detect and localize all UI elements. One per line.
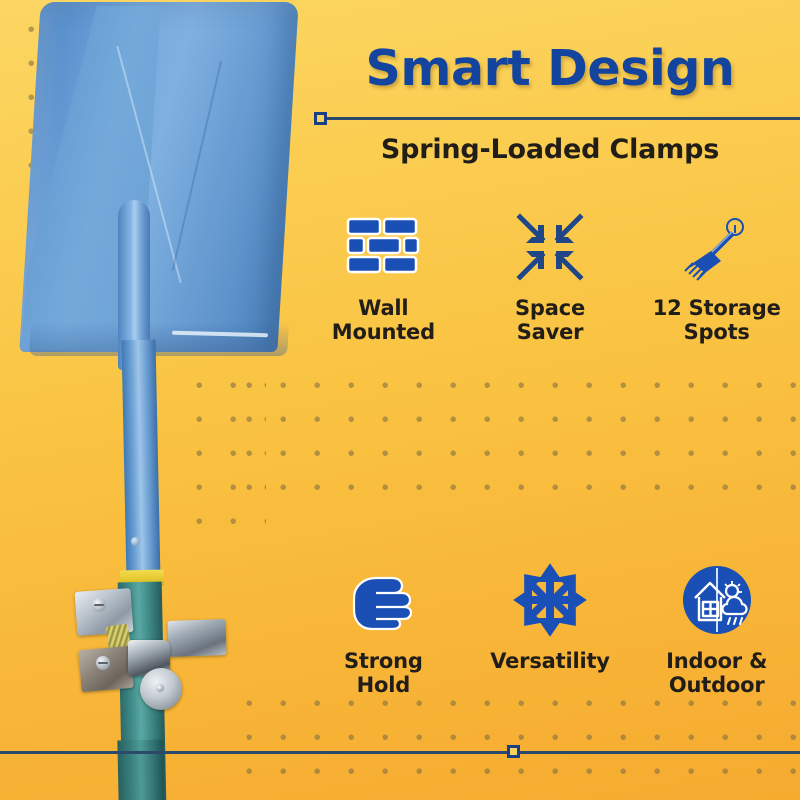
feature-storage-spots: 12 Storage Spots — [633, 205, 800, 344]
clamp-disc — [140, 668, 182, 710]
content-panel: Smart Design Spring-Loaded Clamps — [300, 0, 800, 800]
feature-label: Indoor & Outdoor — [666, 650, 767, 697]
feature-space-saver: Space Saver — [467, 205, 634, 344]
feature-label: Versatility — [490, 650, 610, 674]
compress-arrows-icon — [508, 205, 592, 289]
house-weather-icon — [675, 558, 759, 642]
feature-row-top: Wall Mounted — [300, 205, 800, 344]
gripping-hand-icon — [341, 558, 425, 642]
product-photo — [0, 0, 300, 800]
page-subtitle: Spring-Loaded Clamps — [300, 134, 800, 165]
divider-top — [320, 117, 800, 120]
feature-strong-hold: Strong Hold — [300, 558, 467, 697]
product-infographic: Smart Design Spring-Loaded Clamps — [0, 0, 800, 800]
feature-label: Strong Hold — [344, 650, 423, 697]
shovel-shaft-rivet — [131, 537, 140, 546]
multi-direction-arrows-icon — [508, 558, 592, 642]
shovel-shaft-tip — [117, 740, 164, 800]
page-title: Smart Design — [300, 40, 800, 97]
divider-bottom — [0, 751, 800, 754]
feature-wall-mounted: Wall Mounted — [300, 205, 467, 344]
feature-versatility: Versatility — [467, 558, 634, 697]
feature-label: Space Saver — [515, 297, 585, 344]
divider-marker-top — [314, 112, 327, 125]
clamp-screw-upper — [92, 598, 106, 612]
shovel-shaft-upper — [121, 340, 160, 581]
feature-label: Wall Mounted — [332, 297, 435, 344]
feature-row-bottom: Strong Hold — [300, 558, 800, 697]
shovel-blade-edge — [29, 322, 289, 356]
divider-marker-bottom — [507, 745, 520, 758]
clamp-screw-lower — [96, 656, 110, 670]
rake-tool-icon — [675, 205, 759, 289]
feature-indoor-outdoor: Indoor & Outdoor — [633, 558, 800, 697]
clamp-arm-right — [167, 619, 226, 657]
brick-wall-icon — [341, 205, 425, 289]
feature-label: 12 Storage Spots — [653, 297, 781, 344]
